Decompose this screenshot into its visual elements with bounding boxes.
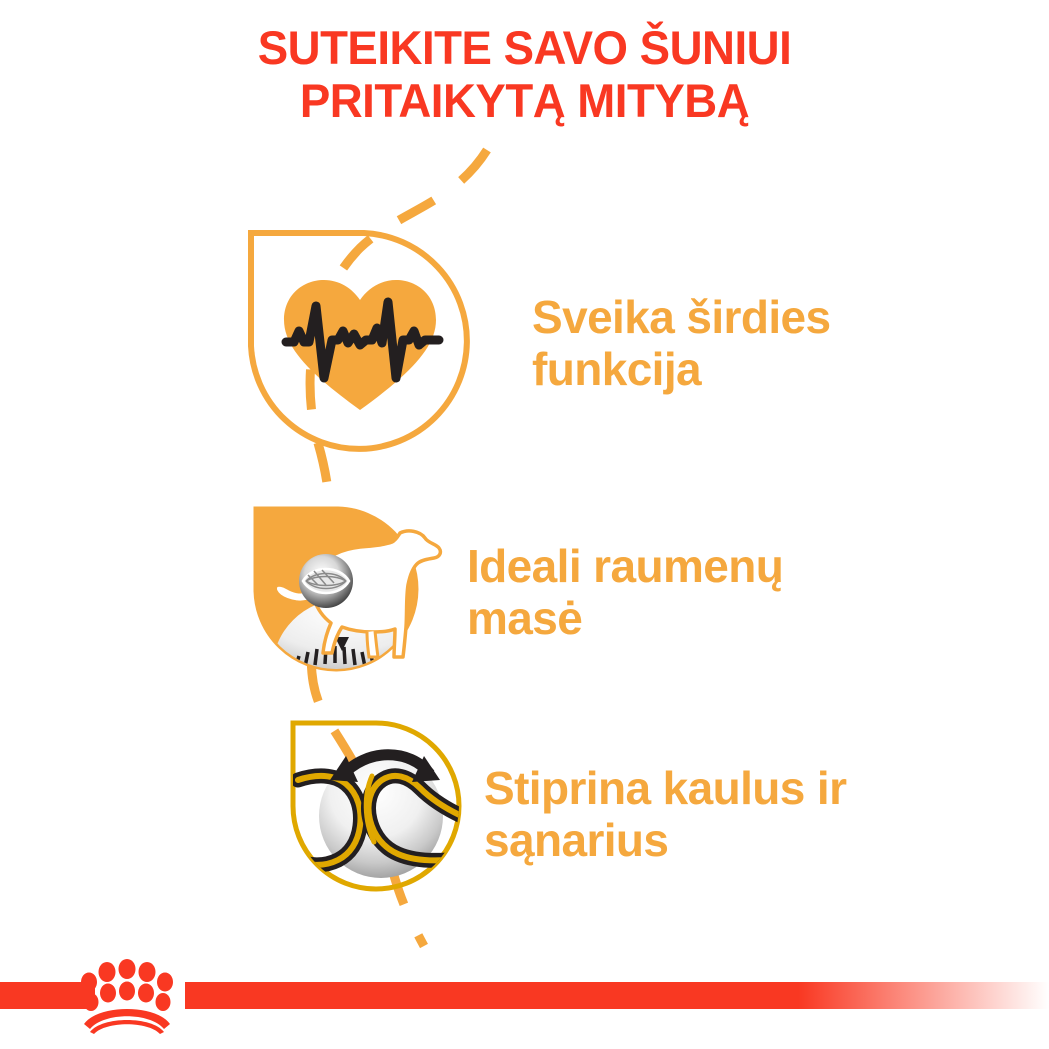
page-title: SUTEIKITE SAVO ŠUNIUI PRITAIKYTĄ MITYBĄ	[16, 22, 1034, 127]
royal-canin-crown-logo	[68, 956, 186, 1034]
badge-joint	[288, 718, 474, 909]
badge-heart	[246, 228, 474, 461]
headline-line-2: PRITAIKYTĄ MITYBĄ	[16, 75, 1034, 128]
feature-label-bones-joints: Stiprina kaulus ir sąnarius	[484, 763, 846, 866]
muscle-fibre-icon	[299, 554, 353, 608]
feature-label-heart-health: Sveika širdies funkcija	[532, 292, 830, 395]
headline-line-1: SUTEIKITE SAVO ŠUNIUI	[258, 21, 792, 74]
joint-bone-arrows-icon	[288, 718, 474, 904]
dog-muscle-scale-icon	[250, 503, 455, 678]
feature-row-bones-joints: Stiprina kaulus ir sąnarius	[288, 718, 846, 909]
feature-row-heart-health: Sveika širdies funkcija	[246, 228, 830, 461]
poster-root: SUTEIKITE SAVO ŠUNIUI PRITAIKYTĄ MITYBĄ …	[0, 0, 1049, 1049]
badge-muscle	[250, 503, 455, 683]
feature-row-muscle-mass: Ideali raumenų masė	[250, 503, 783, 683]
heart-ecg-icon	[246, 228, 474, 456]
footer	[0, 944, 1049, 1049]
feature-label-muscle-mass: Ideali raumenų masė	[467, 541, 783, 644]
footer-bar-right	[185, 982, 1049, 1009]
